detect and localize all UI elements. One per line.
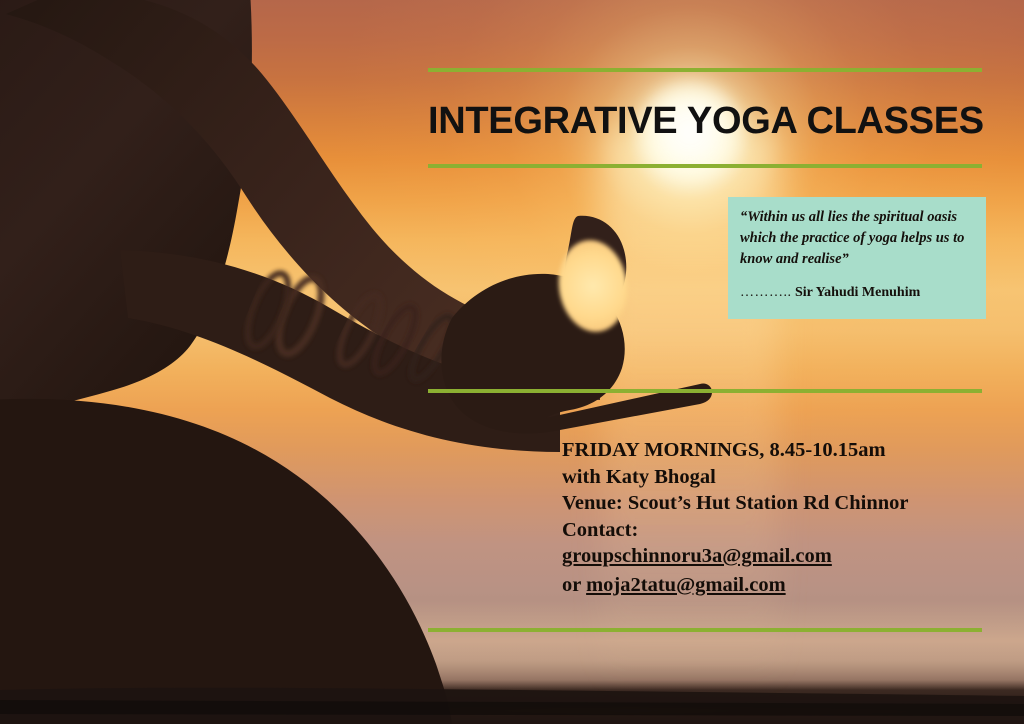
horizon-haze [0, 600, 1024, 690]
quote-attribution: ……….. Sir Yahudi Menuhim [740, 284, 974, 302]
divider-rule-bottom [428, 628, 982, 632]
class-details-block: FRIDAY MORNINGS, 8.45-10.15am with Katy … [562, 437, 982, 598]
quote-text: “Within us all lies the spiritual oasis … [740, 207, 974, 270]
water-reflection [300, 707, 1024, 714]
quote-attribution-dots: ……….. [740, 285, 792, 300]
quote-attribution-name: Sir Yahudi Menuhim [795, 285, 920, 300]
divider-rule-middle [428, 389, 982, 393]
schedule-line: FRIDAY MORNINGS, 8.45-10.15am [562, 437, 982, 464]
divider-rule-under-title [428, 164, 982, 168]
yoga-class-poster: INTEGRATIVE YOGA CLASSES “Within us all … [0, 0, 1024, 724]
email-or-label: or [562, 574, 581, 596]
teacher-line: with Katy Bhogal [562, 464, 982, 491]
email-primary-line: groupschinnoru3a@gmail.com [562, 543, 982, 570]
email-primary[interactable]: groupschinnoru3a@gmail.com [562, 545, 832, 567]
divider-rule-top [428, 68, 982, 72]
poster-title: INTEGRATIVE YOGA CLASSES [428, 100, 982, 143]
email-secondary[interactable]: moja2tatu@gmail.com [586, 574, 786, 596]
venue-line: Venue: Scout’s Hut Station Rd Chinnor [562, 490, 982, 517]
contact-label: Contact: [562, 517, 982, 544]
quote-box: “Within us all lies the spiritual oasis … [728, 197, 986, 319]
email-secondary-line: or moja2tatu@gmail.com [562, 572, 982, 599]
